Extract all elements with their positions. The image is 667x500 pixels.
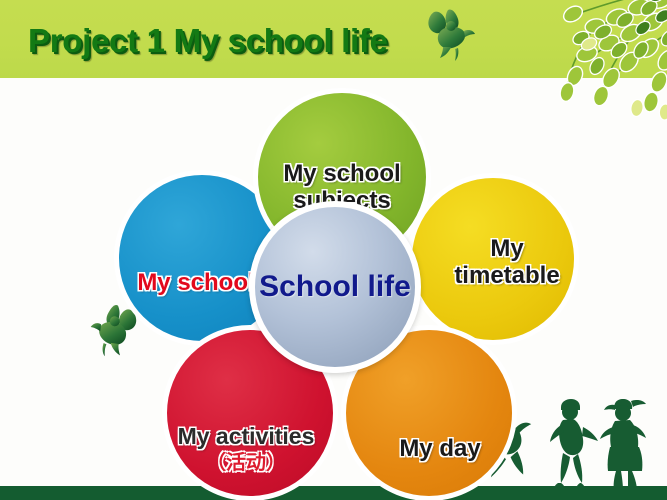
petal-label-line1: My day [399, 436, 480, 463]
ground-strip [0, 486, 667, 500]
center-node-school-life[interactable]: School life [249, 201, 421, 373]
petal-label-line1: My [454, 236, 559, 263]
petal-label-line1: My activities [178, 424, 315, 450]
center-label-line1: School [259, 270, 359, 303]
petal-label-line1: My school [137, 270, 254, 297]
petal-label-line2: timetable [454, 263, 559, 290]
slide-canvas: Project 1 My school life [0, 0, 667, 500]
petal-label-line1: My school [283, 161, 400, 188]
center-label-line2: life [368, 270, 411, 303]
petal-my-timetable[interactable]: My timetable [407, 173, 579, 345]
petal-label-line2: （活动） [178, 452, 315, 474]
